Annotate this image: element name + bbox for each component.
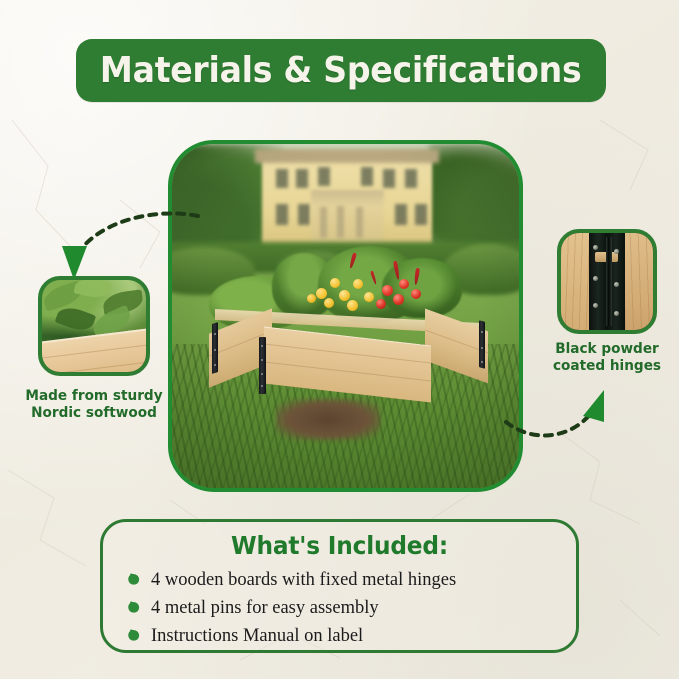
list-item: 4 wooden boards with fixed metal hinges (127, 566, 562, 594)
red-tomato (411, 289, 421, 299)
house-roof (255, 149, 439, 163)
list-item-text: 4 metal pins for easy assembly (151, 598, 379, 619)
yellow-tomato (339, 290, 350, 301)
title-banner: Materials & Specifications (76, 39, 606, 102)
bed-board-front (264, 327, 431, 403)
hinge-pin (606, 237, 612, 326)
whats-included-title: What's Included: (120, 531, 560, 560)
callout-label-softwood: Made from sturdy Nordic softwood (23, 388, 166, 422)
corner-hinge-right (479, 321, 485, 370)
hero-product-photo (168, 140, 523, 492)
yellow-tomato (324, 298, 334, 308)
hinge-wood-right (625, 233, 653, 330)
leaf-bullet-icon (127, 572, 141, 588)
callout-photo-softwood (38, 276, 150, 376)
infographic-page: Materials & Specifications (0, 0, 679, 679)
corner-hinge-front (259, 337, 266, 394)
list-item: 4 metal pins for easy assembly (127, 594, 562, 622)
list-item: Instructions Manual on label (127, 622, 562, 650)
raised-garden-bed (203, 295, 491, 419)
yellow-tomato (330, 278, 340, 288)
list-item-text: Instructions Manual on label (151, 626, 363, 647)
hinge-wood-left (561, 233, 589, 330)
yellow-tomato (307, 294, 316, 303)
list-item-text: 4 wooden boards with fixed metal hinges (151, 570, 456, 591)
callout-label-hinges: Black powder coated hinges (544, 341, 670, 375)
whats-included-list: 4 wooden boards with fixed metal hinges … (127, 566, 562, 650)
hinge-closeup (561, 233, 653, 330)
callout-photo-hinges (557, 229, 657, 334)
corner-hinge-left (212, 322, 218, 373)
house-portico (311, 190, 384, 245)
page-title: Materials & Specifications (100, 50, 581, 91)
yellow-tomato (316, 288, 327, 299)
hero-scene (172, 144, 519, 488)
whats-included-box: What's Included: 4 wooden boards with fi… (100, 519, 579, 653)
leaf-bullet-icon (127, 628, 141, 644)
hinge-metal-plate (589, 233, 626, 330)
leaf-bullet-icon (127, 600, 141, 616)
